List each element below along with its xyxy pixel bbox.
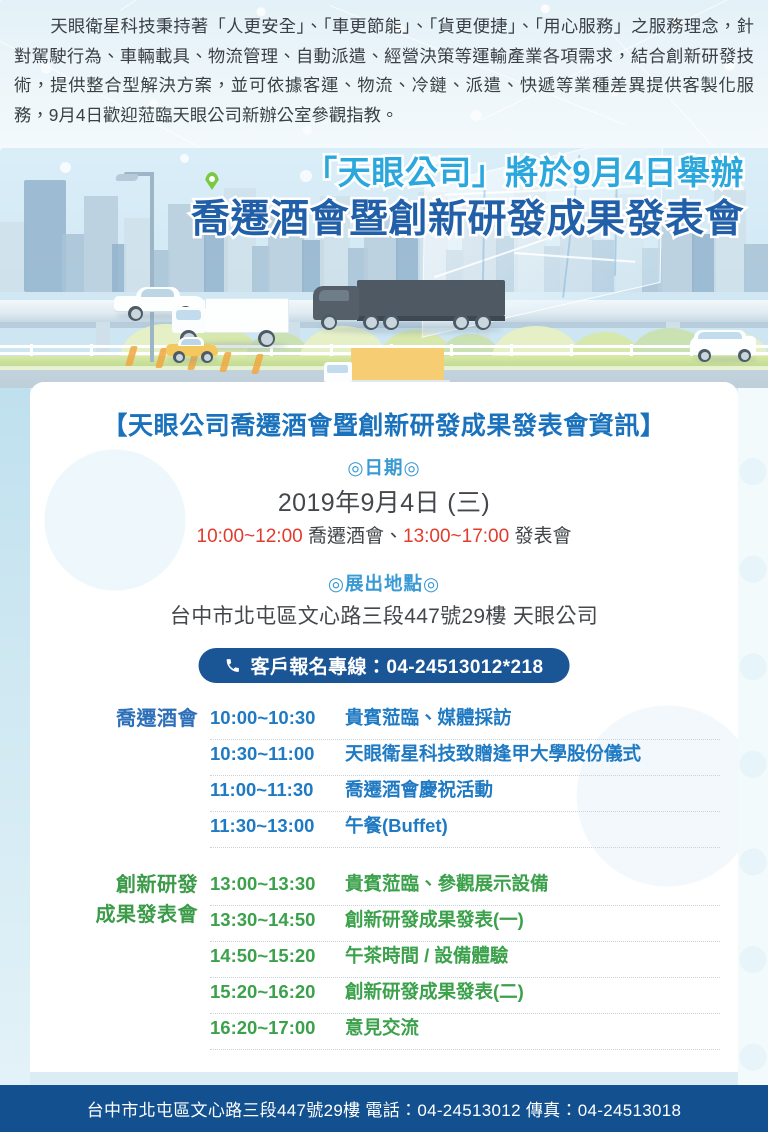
schedule-rows: 10:00~10:30 貴賓蒞臨、媒體採訪 10:30~11:00 天眼衛星科技…: [210, 704, 720, 848]
time-presentation-label: 發表會: [509, 526, 571, 547]
row-desc: 創新研發成果發表(一): [345, 906, 524, 932]
row-time: 10:30~11:00: [210, 743, 328, 765]
table-row: 15:20~16:20 創新研發成果發表(二): [210, 978, 720, 1014]
row-time: 13:00~13:30: [210, 873, 328, 895]
venue-value: 台中市北屯區文心路三段447號29樓 天眼公司: [30, 600, 738, 630]
table-row: 10:30~11:00 天眼衛星科技致贈逢甲大學股份儀式: [210, 740, 720, 776]
row-time: 11:00~11:30: [210, 779, 328, 801]
schedule-group-title: 喬遷酒會: [48, 704, 198, 734]
headline-line2: 喬遷酒會暨創新研發成果發表會: [0, 196, 744, 244]
venue-label: ◎展出地點◎: [30, 570, 738, 596]
table-row: 16:20~17:00 意見交流: [210, 1014, 720, 1050]
row-time: 10:00~10:30: [210, 707, 328, 729]
headline-line1: 「天眼公司」將於9月4日舉辦: [0, 150, 744, 196]
schedule-group-title: 創新研發成果發表會: [48, 870, 198, 930]
table-row: 13:00~13:30 貴賓蒞臨、參觀展示設備: [210, 870, 720, 906]
hotline-button[interactable]: 客戶報名專線：04-24513012*218: [199, 648, 570, 683]
date-label: ◎日期◎: [30, 454, 738, 480]
date-value: 2019年9月4日 (三): [30, 483, 738, 519]
group-title-line1: 創新研發: [116, 874, 198, 896]
vehicle-yellow-taxi: [166, 336, 220, 364]
group-title-line2: 成果發表會: [96, 904, 199, 926]
time-summary: 10:00~12:00 喬遷酒會、13:00~17:00 發表會: [30, 521, 738, 548]
right-margin-strip: [738, 388, 768, 1085]
intro-paragraph: 天眼衛星科技秉持著「人更安全」、「車更節能」、「貨更便捷」、「用心服務」之服務理…: [14, 12, 754, 130]
row-time: 15:20~16:20: [210, 981, 328, 1003]
info-heading: 【天眼公司喬遷酒會暨創新研發成果發表會資訊】: [30, 406, 738, 442]
intro-section: 天眼衛星科技秉持著「人更安全」、「車更節能」、「貨更便捷」、「用心服務」之服務理…: [0, 0, 768, 148]
schedule-rows: 13:00~13:30 貴賓蒞臨、參觀展示設備 13:30~14:50 創新研發…: [210, 870, 720, 1050]
row-time: 16:20~17:00: [210, 1017, 328, 1039]
schedule: 喬遷酒會 10:00~10:30 貴賓蒞臨、媒體採訪 10:30~11:00 天…: [30, 704, 738, 1050]
poster-root: 天眼衛星科技秉持著「人更安全」、「車更節能」、「貨更便捷」、「用心服務」之服務理…: [0, 0, 768, 1132]
table-row: 10:00~10:30 貴賓蒞臨、媒體採訪: [210, 704, 720, 740]
vehicle-dark-semi-truck: [313, 280, 508, 334]
table-row: 13:30~14:50 創新研發成果發表(一): [210, 906, 720, 942]
hotline-label: 客戶報名專線：04-24513012*218: [251, 652, 544, 679]
row-desc: 貴賓蒞臨、媒體採訪: [345, 704, 512, 730]
left-margin-strip: [0, 388, 30, 1085]
headline: 「天眼公司」將於9月4日舉辦 喬遷酒會暨創新研發成果發表會: [0, 150, 768, 244]
content-panel: 【天眼公司喬遷酒會暨創新研發成果發表會資訊】 ◎日期◎ 2019年9月4日 (三…: [30, 382, 738, 1072]
row-desc: 貴賓蒞臨、參觀展示設備: [345, 870, 549, 896]
table-row: 14:50~15:20 午茶時間 / 設備體驗: [210, 942, 720, 978]
footer-bar: 台中市北屯區文心路三段447號29樓 電話：04-24513012 傳真：04-…: [0, 1085, 768, 1132]
schedule-group-party: 喬遷酒會 10:00~10:30 貴賓蒞臨、媒體採訪 10:30~11:00 天…: [30, 704, 738, 848]
time-party-label: 喬遷酒會、: [303, 526, 403, 547]
table-row: 11:00~11:30 喬遷酒會慶祝活動: [210, 776, 720, 812]
vehicle-white-van: [690, 330, 760, 364]
phone-icon: [225, 657, 242, 674]
row-time: 14:50~15:20: [210, 945, 328, 967]
row-time: 13:30~14:50: [210, 909, 328, 931]
table-row: 11:30~13:00 午餐(Buffet): [210, 812, 720, 848]
time-presentation: 13:00~17:00: [403, 526, 509, 547]
schedule-group-presentation: 創新研發成果發表會 13:00~13:30 貴賓蒞臨、參觀展示設備 13:30~…: [30, 870, 738, 1050]
row-desc: 午茶時間 / 設備體驗: [345, 942, 508, 968]
row-desc: 意見交流: [345, 1014, 419, 1040]
time-party: 10:00~12:00: [197, 526, 303, 547]
row-desc: 午餐(Buffet): [345, 812, 448, 838]
footer-text: 台中市北屯區文心路三段447號29樓 電話：04-24513012 傳真：04-…: [87, 1096, 682, 1121]
row-time: 11:30~13:00: [210, 815, 328, 837]
row-desc: 創新研發成果發表(二): [345, 978, 524, 1004]
row-desc: 天眼衛星科技致贈逢甲大學股份儀式: [345, 740, 641, 766]
row-desc: 喬遷酒會慶祝活動: [345, 776, 493, 802]
